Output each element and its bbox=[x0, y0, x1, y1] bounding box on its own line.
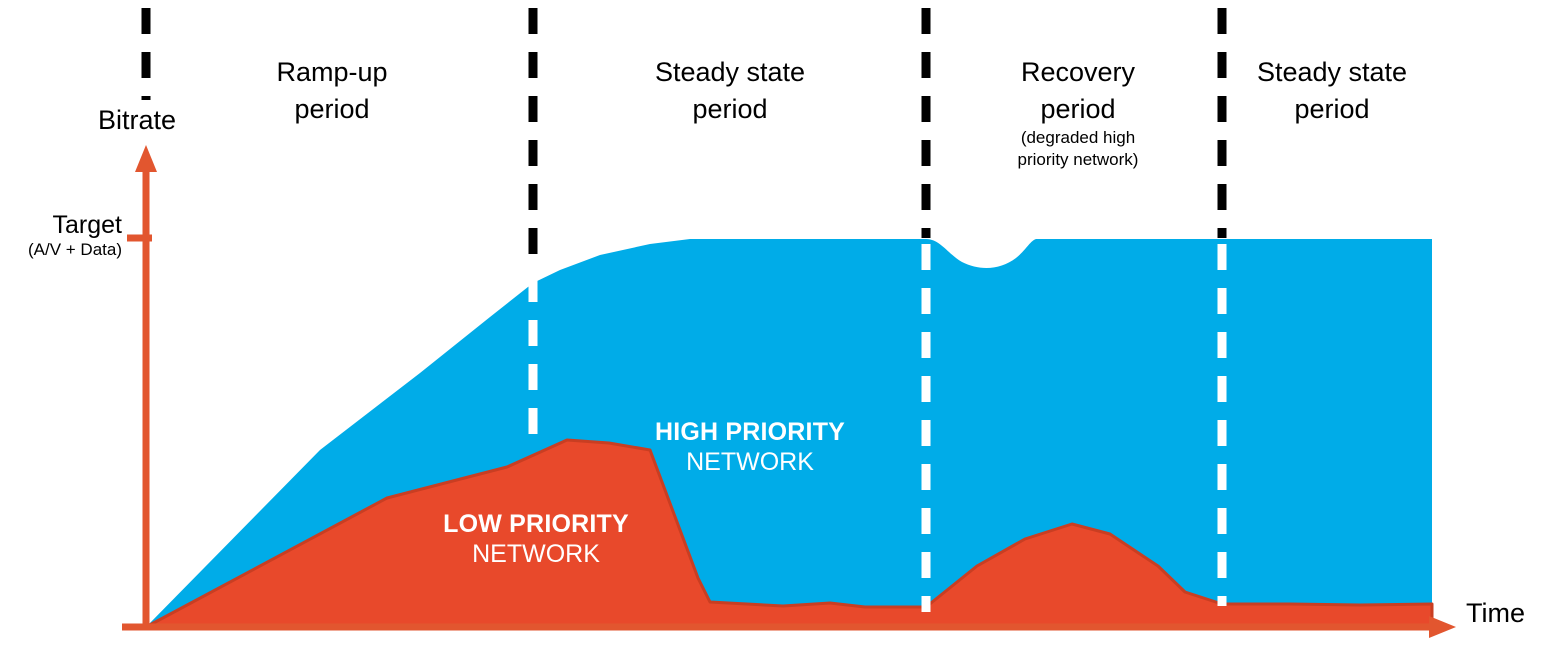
period-label-ramp-up-text: Ramp-up period bbox=[276, 57, 387, 123]
x-axis-label: Time bbox=[1466, 598, 1525, 629]
period-label-steady-state-2: Steady state period bbox=[1212, 18, 1452, 127]
series-label-high-priority-line2: NETWORK bbox=[600, 448, 900, 478]
diagram-canvas: Ramp-up period Steady state period Recov… bbox=[0, 0, 1545, 655]
period-label-steady-state-1-text: Steady state period bbox=[655, 57, 805, 123]
y-axis bbox=[127, 145, 157, 627]
period-label-recovery: Recovery period (degraded high priority … bbox=[958, 18, 1198, 206]
series-label-low-priority-line2: NETWORK bbox=[386, 540, 686, 570]
x-axis-label-text: Time bbox=[1466, 598, 1525, 628]
y-axis-target-tick-label-sub: (A/V + Data) bbox=[0, 240, 122, 260]
period-label-steady-state-1: Steady state period bbox=[610, 18, 850, 127]
series-label-high-priority: HIGH PRIORITY NETWORK bbox=[600, 418, 900, 477]
y-axis-target-tick-label: Target (A/V + Data) bbox=[0, 210, 122, 260]
y-axis-label: Bitrate bbox=[98, 105, 176, 136]
period-label-recovery-text: Recovery period bbox=[1021, 57, 1135, 123]
y-axis-label-text: Bitrate bbox=[98, 105, 176, 135]
period-label-recovery-sublabel: (degraded high priority network) bbox=[958, 127, 1198, 170]
y-axis-target-tick-label-main: Target bbox=[0, 210, 122, 240]
series-label-low-priority-line1: LOW PRIORITY bbox=[386, 510, 686, 540]
series-label-high-priority-line1: HIGH PRIORITY bbox=[600, 418, 900, 448]
period-label-steady-state-2-text: Steady state period bbox=[1257, 57, 1407, 123]
series-label-low-priority: LOW PRIORITY NETWORK bbox=[386, 510, 686, 569]
period-label-ramp-up: Ramp-up period bbox=[212, 18, 452, 127]
